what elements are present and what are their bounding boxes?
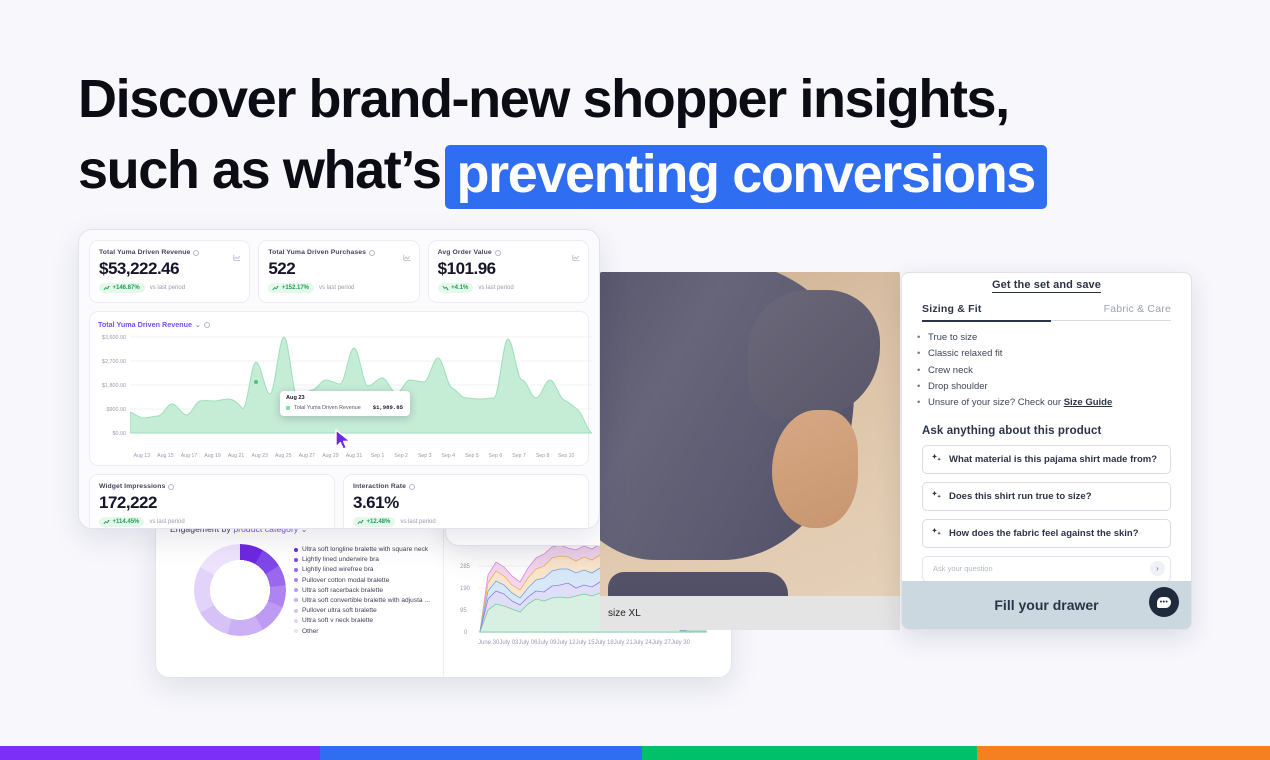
product-photo: size XL: [600, 272, 900, 630]
info-icon[interactable]: [193, 250, 199, 256]
headline-line-1: Discover brand-new shopper insights,: [78, 68, 998, 131]
widget-tabs: Sizing & Fit Fabric & Care: [902, 295, 1191, 315]
info-icon[interactable]: [409, 484, 415, 490]
kpi-delta-badge: +146.87%: [99, 283, 145, 293]
ask-heading: Ask anything about this product: [902, 412, 1191, 437]
trend-ytick: 95: [460, 608, 467, 614]
page-headline: Discover brand-new shopper insights, suc…: [78, 68, 998, 205]
trend-xtick: June 30: [478, 640, 499, 646]
revenue-xtick: Aug 21: [224, 453, 248, 459]
legend-item: Ultra soft convertible bralette with adj…: [294, 597, 430, 604]
tab-sizing-fit[interactable]: Sizing & Fit: [922, 303, 982, 315]
legend-swatch: [294, 558, 298, 562]
kpi-value: $53,222.46: [99, 260, 240, 277]
kpi-delta-badge: +12.48%: [353, 517, 395, 527]
suggested-question-1[interactable]: What material is this pajama shirt made …: [922, 445, 1171, 474]
trend-up-icon: [357, 519, 364, 525]
bullet-item: True to size: [928, 330, 1171, 346]
model-arm: [772, 410, 858, 528]
trend-xtick: July 12: [557, 640, 576, 646]
mouse-cursor-icon: [334, 429, 353, 456]
legend-label: Lightly lined underwire bra: [302, 556, 379, 563]
legend-label: Lightly lined wirefree bra: [302, 566, 373, 573]
chat-bubble-icon[interactable]: •••: [1149, 587, 1179, 617]
revenue-ytick: $1,800.00: [98, 383, 126, 389]
widget-footer[interactable]: Fill your drawer: [902, 581, 1191, 629]
trend-ytick: 190: [460, 586, 470, 592]
legend-item: Ultra soft longline bralette with square…: [294, 546, 430, 553]
trend-xtick: July 06: [518, 640, 537, 646]
kpi-title: Widget Impressions: [99, 483, 165, 490]
size-guide-link[interactable]: Size Guide: [1064, 397, 1113, 408]
trend-xtick: July 30: [671, 640, 690, 646]
kpi-value: 172,222: [99, 494, 325, 511]
trend-xtick: July 09: [537, 640, 556, 646]
question-input-row[interactable]: Ask your question ›: [922, 556, 1171, 582]
revenue-xtick: Aug 17: [177, 453, 201, 459]
kpi-title: Avg Order Value: [438, 249, 492, 256]
legend-label: Ultra soft racerback bralette: [302, 587, 383, 594]
strip-segment-purple: [0, 746, 320, 760]
tooltip-series-swatch: [286, 406, 290, 410]
kpi-delta-badge: +4.1%: [438, 283, 474, 293]
revenue-area-chart: $3,600.00 $2,700.00 $1,800.00 $900.00 $0…: [98, 333, 578, 451]
photo-caption: size XL: [600, 596, 900, 630]
revenue-xtick: Sep 4: [437, 453, 461, 459]
kpi-card-interaction-rate[interactable]: Interaction Rate 3.61% +12.48% vs last p…: [343, 474, 589, 529]
legend-swatch: [294, 548, 298, 552]
revenue-xtick: Sep 6: [484, 453, 508, 459]
legend-label: Pullover cotton modal bralette: [302, 577, 389, 584]
legend-label: Ultra soft v neck bralette: [302, 617, 373, 624]
revenue-xtick: Sep 2: [389, 453, 413, 459]
kpi-card-revenue[interactable]: Total Yuma Driven Revenue $53,222.46 +14…: [89, 240, 250, 303]
suggested-question-label: Does this shirt run true to size?: [949, 491, 1092, 502]
legend-label: Pullover ultra soft bralette: [302, 607, 377, 614]
revenue-xtick: Sep 3: [413, 453, 437, 459]
trend-down-icon: [442, 285, 449, 291]
legend-swatch: [294, 629, 298, 633]
kpi-delta-badge: +114.45%: [99, 517, 144, 527]
chevron-down-icon[interactable]: ⌄: [195, 321, 201, 329]
bullet-item-size-guide: Unsure of your size? Check our Size Guid…: [928, 395, 1171, 411]
trend-up-icon: [272, 285, 279, 291]
suggested-question-3[interactable]: How does the fabric feel against the ski…: [922, 519, 1171, 548]
kpi-row-bottom: Widget Impressions 172,222 +114.45% vs l…: [89, 474, 589, 529]
suggested-question-2[interactable]: Does this shirt run true to size?: [922, 482, 1171, 511]
kpi-delta-badge: +152.17%: [268, 283, 314, 293]
widget-footer-label: Fill your drawer: [994, 597, 1098, 613]
revenue-ytick: $2,700.00: [98, 359, 126, 365]
kpi-compare-label: vs last period: [149, 519, 184, 525]
widget-promo-banner[interactable]: Get the set and save: [902, 273, 1191, 295]
trend-up-icon: [103, 285, 110, 291]
kpi-title: Interaction Rate: [353, 483, 406, 490]
trend-up-icon: [103, 519, 110, 525]
legend-label: Ultra soft longline bralette with square…: [302, 546, 428, 553]
revenue-ytick: $900.00: [98, 407, 126, 413]
bullet-item: Drop shoulder: [928, 379, 1171, 395]
legend-item: Lightly lined wirefree bra: [294, 566, 430, 573]
tooltip-value: $1,989.85: [373, 404, 403, 411]
kpi-value: 522: [268, 260, 409, 277]
chat-dots: •••: [1157, 597, 1171, 608]
revenue-xtick: Aug 23: [248, 453, 272, 459]
revenue-chart-title[interactable]: Total Yuma Driven Revenue: [98, 320, 192, 329]
chevron-right-icon[interactable]: ›: [1150, 561, 1165, 576]
legend-label: Other: [302, 628, 319, 635]
engagement-donut-chart: [194, 544, 286, 636]
trend-ytick: 285: [460, 564, 470, 570]
kpi-title: Total Yuma Driven Purchases: [268, 249, 366, 256]
legend-swatch: [294, 619, 298, 623]
kpi-card-widget-impressions[interactable]: Widget Impressions 172,222 +114.45% vs l…: [89, 474, 335, 529]
kpi-title: Total Yuma Driven Revenue: [99, 249, 190, 256]
revenue-xtick: Aug 13: [130, 453, 154, 459]
trend-xtick: July 18: [595, 640, 614, 646]
legend-label: Ultra soft convertible bralette with adj…: [302, 597, 430, 604]
kpi-delta-value: +12.48%: [367, 519, 391, 525]
trend-xtick: July 24: [633, 640, 652, 646]
kpi-delta-value: +146.87%: [113, 285, 140, 291]
revenue-xtick: Aug 15: [154, 453, 178, 459]
legend-item: Ultra soft v neck bralette: [294, 617, 430, 624]
revenue-xtick: Aug 27: [295, 453, 319, 459]
question-input-placeholder[interactable]: Ask your question: [933, 564, 993, 573]
trend-ytick: 0: [464, 630, 467, 636]
widget-promo-label: Get the set and save: [992, 279, 1101, 293]
chart-icon[interactable]: [403, 249, 411, 267]
revenue-xtick: Aug 25: [271, 453, 295, 459]
kpi-value: 3.61%: [353, 494, 579, 511]
kpi-compare-label: vs last period: [478, 285, 513, 291]
info-icon[interactable]: [204, 322, 210, 328]
trend-xtick: July 15: [576, 640, 595, 646]
revenue-xtick: Sep 1: [366, 453, 390, 459]
revenue-xtick: Sep 5: [460, 453, 484, 459]
tab-underline: [922, 320, 1171, 321]
strip-segment-blue: [320, 746, 642, 760]
info-icon[interactable]: [369, 250, 375, 256]
legend-item: Pullover cotton modal bralette: [294, 577, 430, 584]
strip-segment-green: [642, 746, 977, 760]
kpi-compare-label: vs last period: [400, 519, 435, 525]
revenue-xtick: Sep 7: [507, 453, 531, 459]
dashboard-main-panel[interactable]: Total Yuma Driven Revenue $53,222.46 +14…: [78, 229, 600, 529]
product-qa-widget[interactable]: Get the set and save Sizing & Fit Fabric…: [901, 272, 1192, 630]
trend-xtick: July 03: [499, 640, 518, 646]
headline-highlight: preventing conversions: [445, 145, 1047, 209]
sizing-bullet-list: True to size Classic relaxed fit Crew ne…: [902, 321, 1191, 412]
tooltip-series-name: Total Yuma Driven Revenue: [294, 405, 361, 411]
legend-swatch: [294, 578, 298, 582]
kpi-card-aov[interactable]: Avg Order Value $101.96 +4.1% vs last pe…: [428, 240, 589, 303]
legend-item: Other: [294, 628, 430, 635]
engagement-by-category-card[interactable]: Engagement by product category ⌄ Ultra s…: [156, 514, 443, 677]
chart-icon[interactable]: [572, 249, 580, 267]
revenue-ytick: $0.00: [98, 431, 126, 437]
headline-line-2: such as what’spreventing conversions: [78, 139, 998, 205]
headline-prefix: such as what’s: [78, 140, 441, 200]
chart-icon[interactable]: [233, 249, 241, 267]
sparkle-icon: [932, 453, 942, 466]
kpi-row-top: Total Yuma Driven Revenue $53,222.46 +14…: [89, 240, 589, 303]
revenue-ytick: $3,600.00: [98, 335, 126, 341]
legend-item: Ultra soft racerback bralette: [294, 587, 430, 594]
revenue-xtick: Sep 10: [554, 453, 578, 459]
legend-item: Lightly lined underwire bra: [294, 556, 430, 563]
kpi-delta-value: +114.45%: [113, 519, 140, 525]
legend-item: Pullover ultra soft bralette: [294, 607, 430, 614]
suggested-question-label: How does the fabric feel against the ski…: [949, 528, 1139, 539]
revenue-chart-card[interactable]: Total Yuma Driven Revenue ⌄ $3,600.00 $2…: [89, 311, 589, 466]
revenue-xtick: Aug 19: [201, 453, 225, 459]
info-icon[interactable]: [495, 250, 501, 256]
bottom-color-strip: [0, 746, 1270, 760]
kpi-delta-value: +152.17%: [282, 285, 309, 291]
donut-legend: Ultra soft longline bralette with square…: [294, 544, 430, 638]
sparkle-icon: [932, 527, 942, 540]
legend-swatch: [294, 609, 298, 613]
trend-xtick: July 21: [614, 640, 633, 646]
kpi-delta-value: +4.1%: [451, 285, 468, 291]
legend-swatch: [294, 598, 298, 602]
sparkle-icon: [932, 490, 942, 503]
revenue-xtick: Sep 8: [531, 453, 555, 459]
legend-swatch: [294, 588, 298, 592]
bullet-item: Classic relaxed fit: [928, 346, 1171, 362]
trend-xtick: July 27: [652, 640, 671, 646]
chart-tooltip: Aug 23 Total Yuma Driven Revenue $1,989.…: [280, 391, 410, 416]
tooltip-date: Aug 23: [286, 395, 403, 401]
tab-fabric-care[interactable]: Fabric & Care: [1104, 303, 1171, 315]
info-icon[interactable]: [168, 484, 174, 490]
bullet-item: Crew neck: [928, 363, 1171, 379]
legend-swatch: [294, 568, 298, 572]
kpi-value: $101.96: [438, 260, 579, 277]
kpi-compare-label: vs last period: [150, 285, 185, 291]
strip-segment-orange: [977, 746, 1270, 760]
suggested-question-label: What material is this pajama shirt made …: [949, 454, 1157, 465]
kpi-card-purchases[interactable]: Total Yuma Driven Purchases 522 +152.17%…: [258, 240, 419, 303]
kpi-compare-label: vs last period: [319, 285, 354, 291]
